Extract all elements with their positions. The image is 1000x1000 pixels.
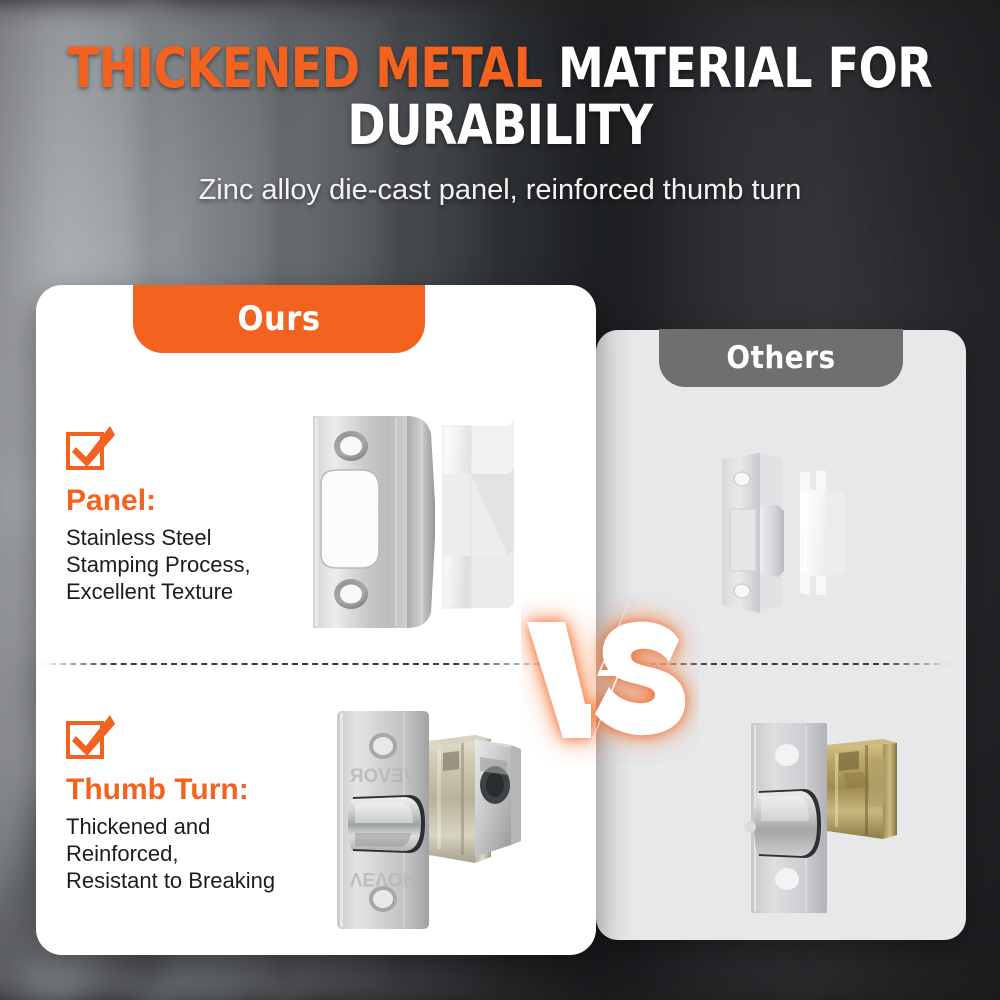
- checkmark-icon: [66, 717, 110, 759]
- feature-thumb-turn: Thumb Turn: Thickened and Reinforced, Re…: [66, 717, 316, 894]
- feature-description: Stainless Steel Stamping Process, Excell…: [66, 524, 316, 605]
- page-title: THICKENED METAL MATERIAL FOR DURABILITY: [35, 40, 965, 154]
- feature-description: Thickened and Reinforced, Resistant to B…: [66, 813, 316, 894]
- brand-emboss-bottom: VEVOR: [350, 868, 417, 889]
- brand-emboss-top: VEVOR: [349, 766, 416, 787]
- feature-panel: Panel: Stainless Steel Stamping Process,…: [66, 428, 316, 605]
- ours-divider: [40, 663, 560, 665]
- tab-ours[interactable]: Ours: [133, 285, 425, 353]
- product-image-others-panel: [700, 445, 875, 620]
- feature-title: Panel:: [66, 484, 316, 518]
- product-image-others-thumb-turn: [735, 715, 925, 920]
- page-subtitle: Zinc alloy die-cast panel, reinforced th…: [0, 174, 1000, 207]
- check-tick-icon: [69, 424, 115, 468]
- feature-title: Thumb Turn:: [66, 773, 316, 807]
- check-tick-icon: [69, 713, 115, 757]
- vs-badge: [521, 592, 699, 764]
- header: THICKENED METAL MATERIAL FOR DURABILITY …: [0, 40, 1000, 207]
- tab-others[interactable]: Others: [659, 329, 903, 387]
- headline-highlight: THICKENED METAL: [68, 36, 543, 100]
- checkmark-icon: [66, 428, 110, 470]
